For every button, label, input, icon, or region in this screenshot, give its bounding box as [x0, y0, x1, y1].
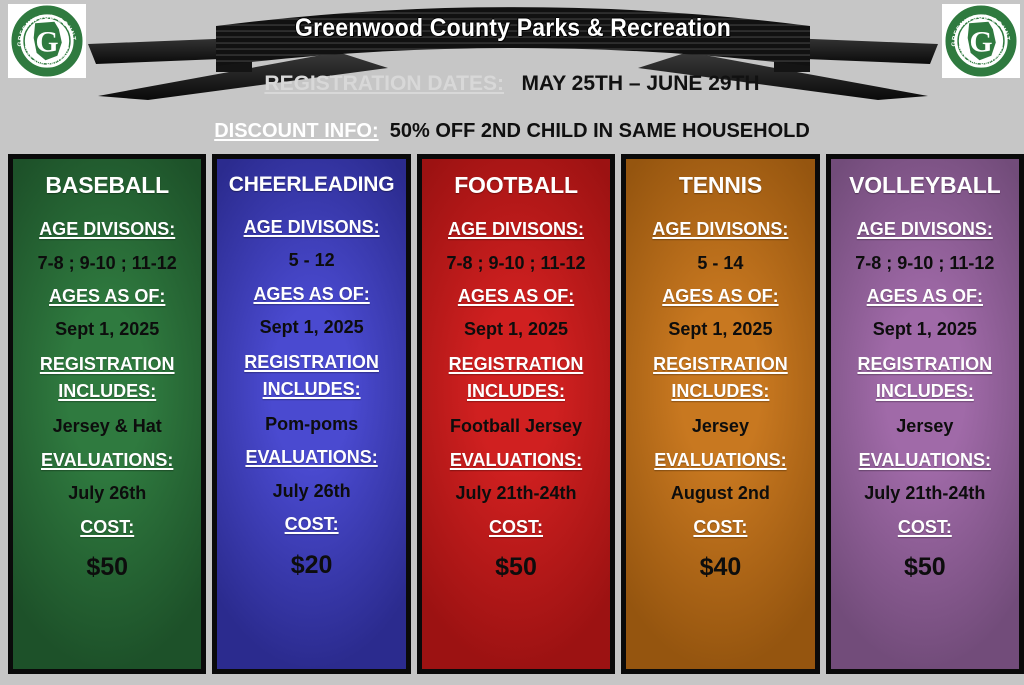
cost-value: $20	[291, 550, 333, 580]
evaluations-value: August 2nd	[671, 483, 770, 505]
svg-text:G: G	[35, 26, 58, 58]
flyer-header: G GREENWOOD COUNTY Parks and Recreation	[0, 0, 1024, 152]
age-divisions-value: 7-8 ; 9-10 ; 11-12	[38, 253, 177, 275]
registration-includes-line1: REGISTRATION	[653, 354, 788, 374]
logo-left: G GREENWOOD COUNTY Parks and Recreation	[8, 4, 86, 78]
evaluations-label: EVALUATIONS:	[41, 448, 173, 472]
logo-right: G GREENWOOD COUNTY Parks and Recreation	[942, 4, 1020, 78]
evaluations-label: EVALUATIONS:	[859, 448, 991, 472]
registration-includes-label: REGISTRATIONINCLUDES:	[857, 351, 992, 405]
evaluations-value: July 26th	[273, 481, 351, 503]
ages-as-of-value: Sept 1, 2025	[464, 319, 568, 341]
discount-info-value: 50% OFF 2ND CHILD IN SAME HOUSEHOLD	[390, 120, 810, 142]
cost-value: $50	[904, 552, 946, 582]
registration-includes-value: Jersey & Hat	[53, 416, 162, 438]
registration-includes-line1: REGISTRATION	[244, 352, 379, 372]
sport-card-football[interactable]: FOOTBALLAGE DIVISONS:7-8 ; 9-10 ; 11-12A…	[417, 154, 615, 674]
ages-as-of-value: Sept 1, 2025	[668, 319, 772, 341]
registration-includes-line2: INCLUDES:	[876, 381, 974, 401]
registration-includes-line2: INCLUDES:	[263, 379, 361, 399]
ages-as-of-label: AGES AS OF:	[867, 284, 983, 308]
registration-includes-label: REGISTRATIONINCLUDES:	[244, 349, 379, 403]
ages-as-of-label: AGES AS OF:	[458, 284, 574, 308]
registration-dates-line: REGISTRATION DATES: MAY 25TH – JUNE 29TH	[0, 72, 1024, 96]
sport-title: FOOTBALL	[454, 173, 578, 198]
registration-includes-line1: REGISTRATION	[857, 354, 992, 374]
registration-includes-label: REGISTRATIONINCLUDES:	[40, 351, 175, 405]
registration-includes-value: Football Jersey	[450, 416, 582, 438]
registration-includes-line2: INCLUDES:	[671, 381, 769, 401]
sport-card-cheerleading[interactable]: CHEERLEADINGAGE DIVISONS:5 - 12AGES AS O…	[212, 154, 410, 674]
sport-title: TENNIS	[679, 173, 762, 198]
ages-as-of-value: Sept 1, 2025	[873, 319, 977, 341]
evaluations-label: EVALUATIONS:	[450, 448, 582, 472]
parks-recreation-seal-icon: G GREENWOOD COUNTY Parks and Recreation	[942, 4, 1020, 78]
age-divisions-label: AGE DIVISONS:	[652, 217, 788, 241]
age-divisions-value: 7-8 ; 9-10 ; 11-12	[446, 253, 585, 275]
ages-as-of-label: AGES AS OF:	[662, 284, 778, 308]
age-divisions-value: 5 - 12	[289, 250, 335, 272]
cost-label: COST:	[285, 512, 339, 536]
evaluations-value: July 26th	[68, 483, 146, 505]
registration-includes-label: REGISTRATIONINCLUDES:	[449, 351, 584, 405]
cost-value: $50	[495, 552, 537, 582]
ages-as-of-value: Sept 1, 2025	[55, 319, 159, 341]
cost-value: $50	[86, 552, 128, 582]
sport-card-tennis[interactable]: TENNISAGE DIVISONS:5 - 14AGES AS OF:Sept…	[621, 154, 819, 674]
svg-text:G: G	[969, 26, 992, 58]
age-divisions-label: AGE DIVISONS:	[857, 217, 993, 241]
registration-includes-line1: REGISTRATION	[449, 354, 584, 374]
registration-includes-value: Jersey	[896, 416, 953, 438]
cost-label: COST:	[693, 515, 747, 539]
registration-includes-line1: REGISTRATION	[40, 354, 175, 374]
evaluations-value: July 21th-24th	[455, 483, 576, 505]
registration-includes-value: Jersey	[692, 416, 749, 438]
card-content: TENNISAGE DIVISONS:5 - 14AGES AS OF:Sept…	[630, 165, 810, 582]
sport-title: BASEBALL	[45, 173, 169, 198]
card-content: FOOTBALLAGE DIVISONS:7-8 ; 9-10 ; 11-12A…	[426, 165, 606, 582]
parks-recreation-seal-icon: G GREENWOOD COUNTY Parks and Recreation	[8, 4, 86, 78]
sport-card-baseball[interactable]: BASEBALLAGE DIVISONS:7-8 ; 9-10 ; 11-12A…	[8, 154, 206, 674]
age-divisions-value: 5 - 14	[697, 253, 743, 275]
registration-includes-line2: INCLUDES:	[467, 381, 565, 401]
discount-info-label: DISCOUNT INFO:	[214, 120, 378, 142]
sport-card-volleyball[interactable]: VOLLEYBALLAGE DIVISONS:7-8 ; 9-10 ; 11-1…	[826, 154, 1024, 674]
cost-label: COST:	[489, 515, 543, 539]
cost-label: COST:	[80, 515, 134, 539]
age-divisions-label: AGE DIVISONS:	[244, 215, 380, 239]
registration-includes-line2: INCLUDES:	[58, 381, 156, 401]
ages-as-of-value: Sept 1, 2025	[260, 317, 364, 339]
registration-includes-label: REGISTRATIONINCLUDES:	[653, 351, 788, 405]
evaluations-label: EVALUATIONS:	[654, 448, 786, 472]
registration-dates-label: REGISTRATION DATES:	[264, 72, 504, 95]
cost-label: COST:	[898, 515, 952, 539]
sport-title: VOLLEYBALL	[849, 173, 1000, 198]
ages-as-of-label: AGES AS OF:	[253, 282, 369, 306]
sport-title: CHEERLEADING	[229, 173, 395, 196]
discount-info-line: DISCOUNT INFO: 50% OFF 2ND CHILD IN SAME…	[0, 120, 1024, 143]
sports-cards-row: BASEBALLAGE DIVISONS:7-8 ; 9-10 ; 11-12A…	[8, 154, 1024, 674]
flyer-root: G GREENWOOD COUNTY Parks and Recreation	[0, 0, 1024, 685]
age-divisions-label: AGE DIVISONS:	[448, 217, 584, 241]
age-divisions-value: 7-8 ; 9-10 ; 11-12	[855, 253, 994, 275]
card-content: BASEBALLAGE DIVISONS:7-8 ; 9-10 ; 11-12A…	[17, 165, 197, 582]
page-title: Greenwood County Parks & Recreation	[122, 14, 904, 43]
evaluations-label: EVALUATIONS:	[245, 445, 377, 469]
card-content: VOLLEYBALLAGE DIVISONS:7-8 ; 9-10 ; 11-1…	[835, 165, 1015, 582]
cost-value: $40	[700, 552, 742, 582]
age-divisions-label: AGE DIVISONS:	[39, 217, 175, 241]
card-content: CHEERLEADINGAGE DIVISONS:5 - 12AGES AS O…	[221, 165, 401, 580]
ages-as-of-label: AGES AS OF:	[49, 284, 165, 308]
registration-dates-value: MAY 25TH – JUNE 29TH	[521, 72, 759, 95]
evaluations-value: July 21th-24th	[864, 483, 985, 505]
registration-includes-value: Pom-poms	[265, 414, 358, 436]
